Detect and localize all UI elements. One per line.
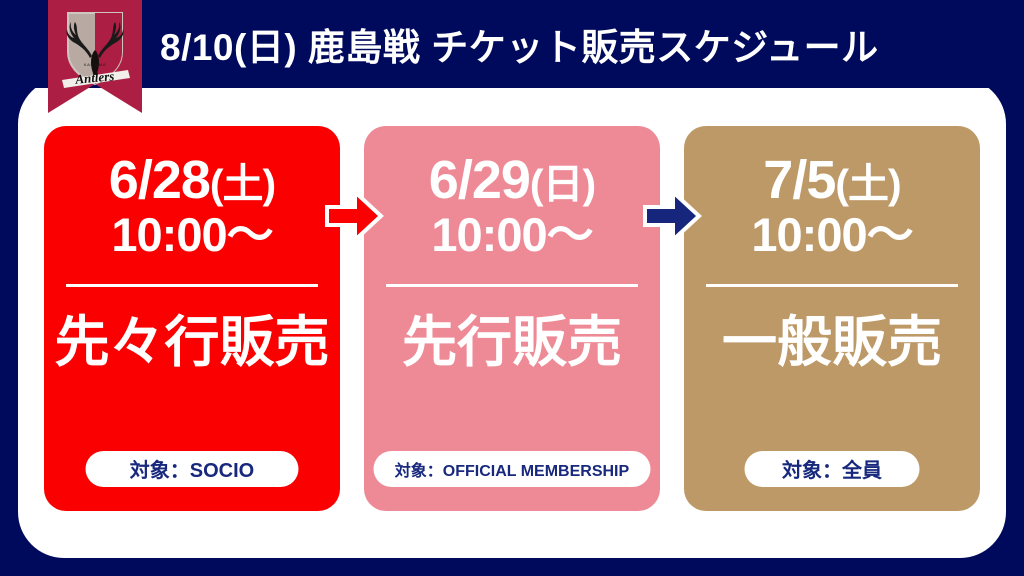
sale-date-dow: (土) — [210, 161, 275, 207]
sale-card-target-badge: 対象：全員 — [745, 451, 920, 487]
sale-date-value: 6/28 — [109, 150, 210, 210]
sale-card-sensensenko: 6/28(土) 10:00〜 先々行販売 対象：SOCIO — [44, 126, 340, 511]
card-divider — [66, 284, 318, 287]
card-divider — [386, 284, 638, 287]
sale-date-value: 6/29 — [429, 150, 530, 210]
sale-card-name: 一般販売 — [722, 315, 942, 370]
sale-card-time: 10:00〜 — [431, 209, 592, 261]
arrow-right-icon — [641, 185, 703, 247]
sale-card-ippan: 7/5(土) 10:00〜 一般販売 対象：全員 — [684, 126, 980, 511]
sale-card-time: 10:00〜 — [111, 209, 272, 261]
sale-card-senko: 6/29(日) 10:00〜 先行販売 対象：OFFICIAL MEMBERSH… — [364, 126, 660, 511]
sale-card-time: 10:00〜 — [751, 209, 912, 261]
sale-date-dow: (日) — [530, 161, 595, 207]
sale-card-name: 先々行販売 — [54, 315, 329, 370]
sale-date-value: 7/5 — [763, 150, 835, 210]
page-title: 8/10(日) 鹿島戦 チケット販売スケジュール — [160, 0, 879, 88]
sales-schedule-cards: 6/28(土) 10:00〜 先々行販売 対象：SOCIO 6/29(日) 10… — [18, 78, 1006, 558]
sale-card-date: 6/29(日) — [429, 152, 595, 209]
sale-card-target-badge: 対象：OFFICIAL MEMBERSHIP — [374, 451, 651, 487]
sale-date-dow: (土) — [835, 161, 900, 207]
sale-card-target-badge: 対象：SOCIO — [86, 451, 299, 487]
sale-card-name: 先行販売 — [402, 315, 622, 370]
poster-canvas: 8/10(日) 鹿島戦 チケット販売スケジュール KASHIMA Antlers — [0, 0, 1024, 576]
kashima-antlers-crest-icon: KASHIMA Antlers — [48, 0, 142, 113]
svg-text:KASHIMA: KASHIMA — [84, 62, 106, 67]
sale-card-date: 6/28(土) — [109, 152, 275, 209]
arrow-right-icon — [323, 185, 385, 247]
sale-card-date: 7/5(土) — [763, 152, 900, 209]
card-divider — [706, 284, 958, 287]
